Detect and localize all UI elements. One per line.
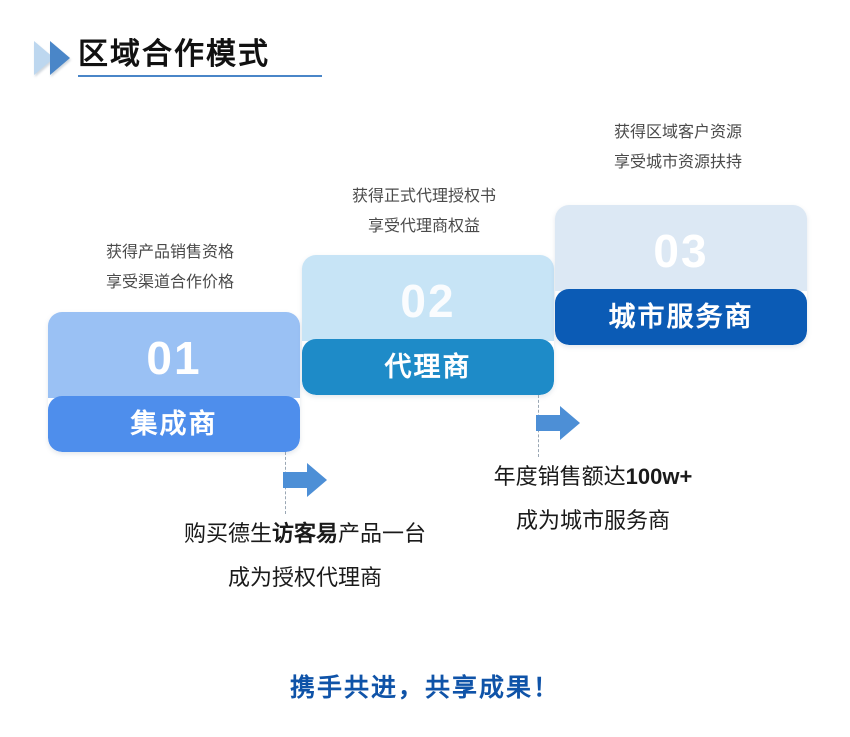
- step-03-label: 城市服务商: [609, 304, 754, 331]
- step-01-caption: 获得产品销售资格 享受渠道合作价格: [40, 238, 300, 298]
- infographic-canvas: 区域合作模式 获得产品销售资格 享受渠道合作价格 01 集成商 获得正式代理授权…: [0, 0, 850, 737]
- arrow-right-icon: [283, 461, 327, 499]
- step-02-caption: 获得正式代理授权书 享受代理商权益: [294, 182, 554, 242]
- page-title: 区域合作模式: [78, 38, 270, 71]
- transition-1-text: 购买德生访客易产品一台 成为授权代理商: [140, 512, 470, 600]
- transition-2-strong: 100w+: [626, 464, 693, 489]
- transition-2-text: 年度销售额达100w+ 成为城市服务商: [428, 455, 758, 543]
- step-02-caption-line1: 获得正式代理授权书: [294, 182, 554, 212]
- transition-2-line1: 年度销售额达100w+: [428, 455, 758, 499]
- step-01-label: 集成商: [131, 411, 218, 438]
- step-01-card-footer: 集成商: [48, 396, 300, 452]
- step-03-caption-line1: 获得区域客户资源: [548, 118, 808, 148]
- step-02-number: 02: [400, 278, 455, 324]
- step-01-card[interactable]: 01 集成商: [48, 312, 300, 452]
- transition-1-suffix: 产品一台: [338, 521, 426, 546]
- chevron-group: [34, 41, 64, 75]
- footer-slogan: 携手共进，共享成果！: [0, 668, 850, 704]
- page-header: 区域合作模式: [34, 38, 270, 77]
- step-02-card-top: 02: [302, 255, 554, 341]
- step-02-label: 代理商: [385, 354, 472, 381]
- transition-2-line2: 成为城市服务商: [428, 499, 758, 543]
- chevron-right-icon: [50, 41, 70, 75]
- step-03-card-footer: 城市服务商: [555, 289, 807, 345]
- step-02-card[interactable]: 02 代理商: [302, 255, 554, 395]
- page-title-wrap: 区域合作模式: [78, 38, 270, 77]
- step-01-caption-line1: 获得产品销售资格: [40, 238, 300, 268]
- arrow-right-icon: [536, 404, 580, 442]
- transition-1-prefix: 购买德生: [184, 521, 272, 546]
- transition-2-prefix: 年度销售额达: [494, 464, 626, 489]
- transition-1-line2: 成为授权代理商: [140, 556, 470, 600]
- transition-1-strong: 访客易: [272, 521, 338, 546]
- step-03-card-top: 03: [555, 205, 807, 291]
- step-03-number: 03: [653, 228, 708, 274]
- step-03-card[interactable]: 03 城市服务商: [555, 205, 807, 345]
- step-03-caption-line2: 享受城市资源扶持: [548, 148, 808, 178]
- step-02-card-footer: 代理商: [302, 339, 554, 395]
- step-01-number: 01: [146, 335, 201, 381]
- step-03-caption: 获得区域客户资源 享受城市资源扶持: [548, 118, 808, 178]
- step-01-card-top: 01: [48, 312, 300, 398]
- step-01-caption-line2: 享受渠道合作价格: [40, 268, 300, 298]
- step-02-caption-line2: 享受代理商权益: [294, 212, 554, 242]
- title-underline: [78, 75, 322, 77]
- transition-1-line1: 购买德生访客易产品一台: [140, 512, 470, 556]
